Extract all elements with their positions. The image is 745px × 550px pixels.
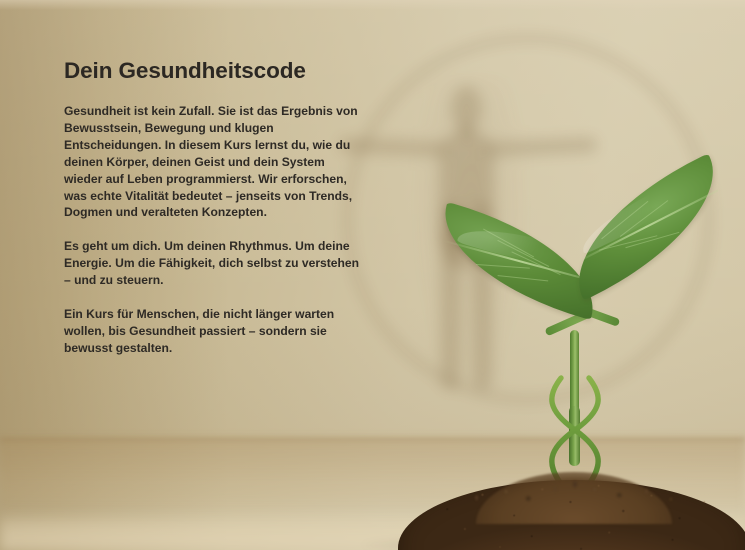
paragraph-2: Es geht um dich. Um deinen Rhythmus. Um … <box>64 238 364 289</box>
soil-mound <box>398 466 745 550</box>
text-panel: Dein Gesundheitscode Gesundheit ist kein… <box>64 58 364 357</box>
top-vignette <box>0 0 745 10</box>
paragraph-1: Gesundheit ist kein Zufall. Sie ist das … <box>64 103 364 221</box>
soil-crumbs <box>452 474 698 508</box>
shadow-head <box>451 86 482 128</box>
promo-banner: Dein Gesundheitscode Gesundheit ist kein… <box>0 0 745 550</box>
paragraph-3: Ein Kurs für Menschen, die nicht länger … <box>64 306 364 357</box>
page-title: Dein Gesundheitscode <box>64 58 364 84</box>
